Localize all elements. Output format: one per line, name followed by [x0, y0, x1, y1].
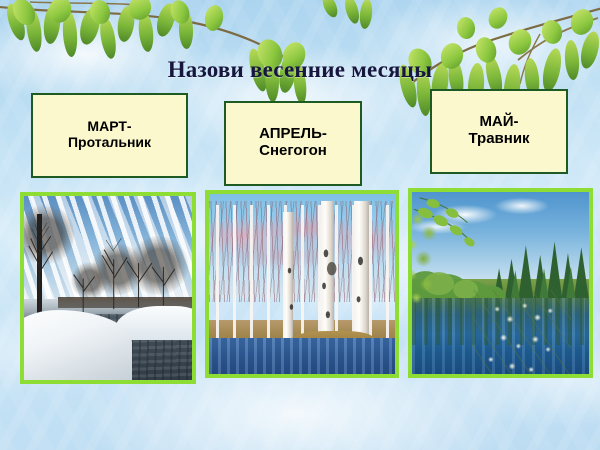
green-lake-scene — [412, 192, 589, 374]
winter-river-scene — [24, 196, 192, 380]
winter-river-photo[interactable] — [20, 192, 196, 384]
birch-grove-scene — [209, 194, 395, 374]
month-nickname-march: Протальник — [68, 135, 151, 151]
month-name-may: МАЙ- — [479, 114, 518, 131]
birch-grove-painting[interactable] — [205, 190, 399, 378]
month-nickname-may: Травник — [468, 131, 529, 148]
page-title: Назови весенние месяцы — [0, 57, 600, 83]
green-lake-photo[interactable] — [408, 188, 593, 378]
month-box-april[interactable]: АПРЕЛЬ- Снегогон — [224, 101, 362, 186]
month-box-march[interactable]: МАРТ- Протальник — [31, 93, 188, 178]
month-name-april: АПРЕЛЬ- — [259, 126, 327, 143]
month-nickname-april: Снегогон — [259, 143, 327, 160]
month-box-may[interactable]: МАЙ- Травник — [430, 89, 568, 174]
month-name-march: МАРТ- — [87, 119, 131, 135]
slide-canvas: Назови весенние месяцы МАРТ- Протальник … — [0, 0, 600, 450]
